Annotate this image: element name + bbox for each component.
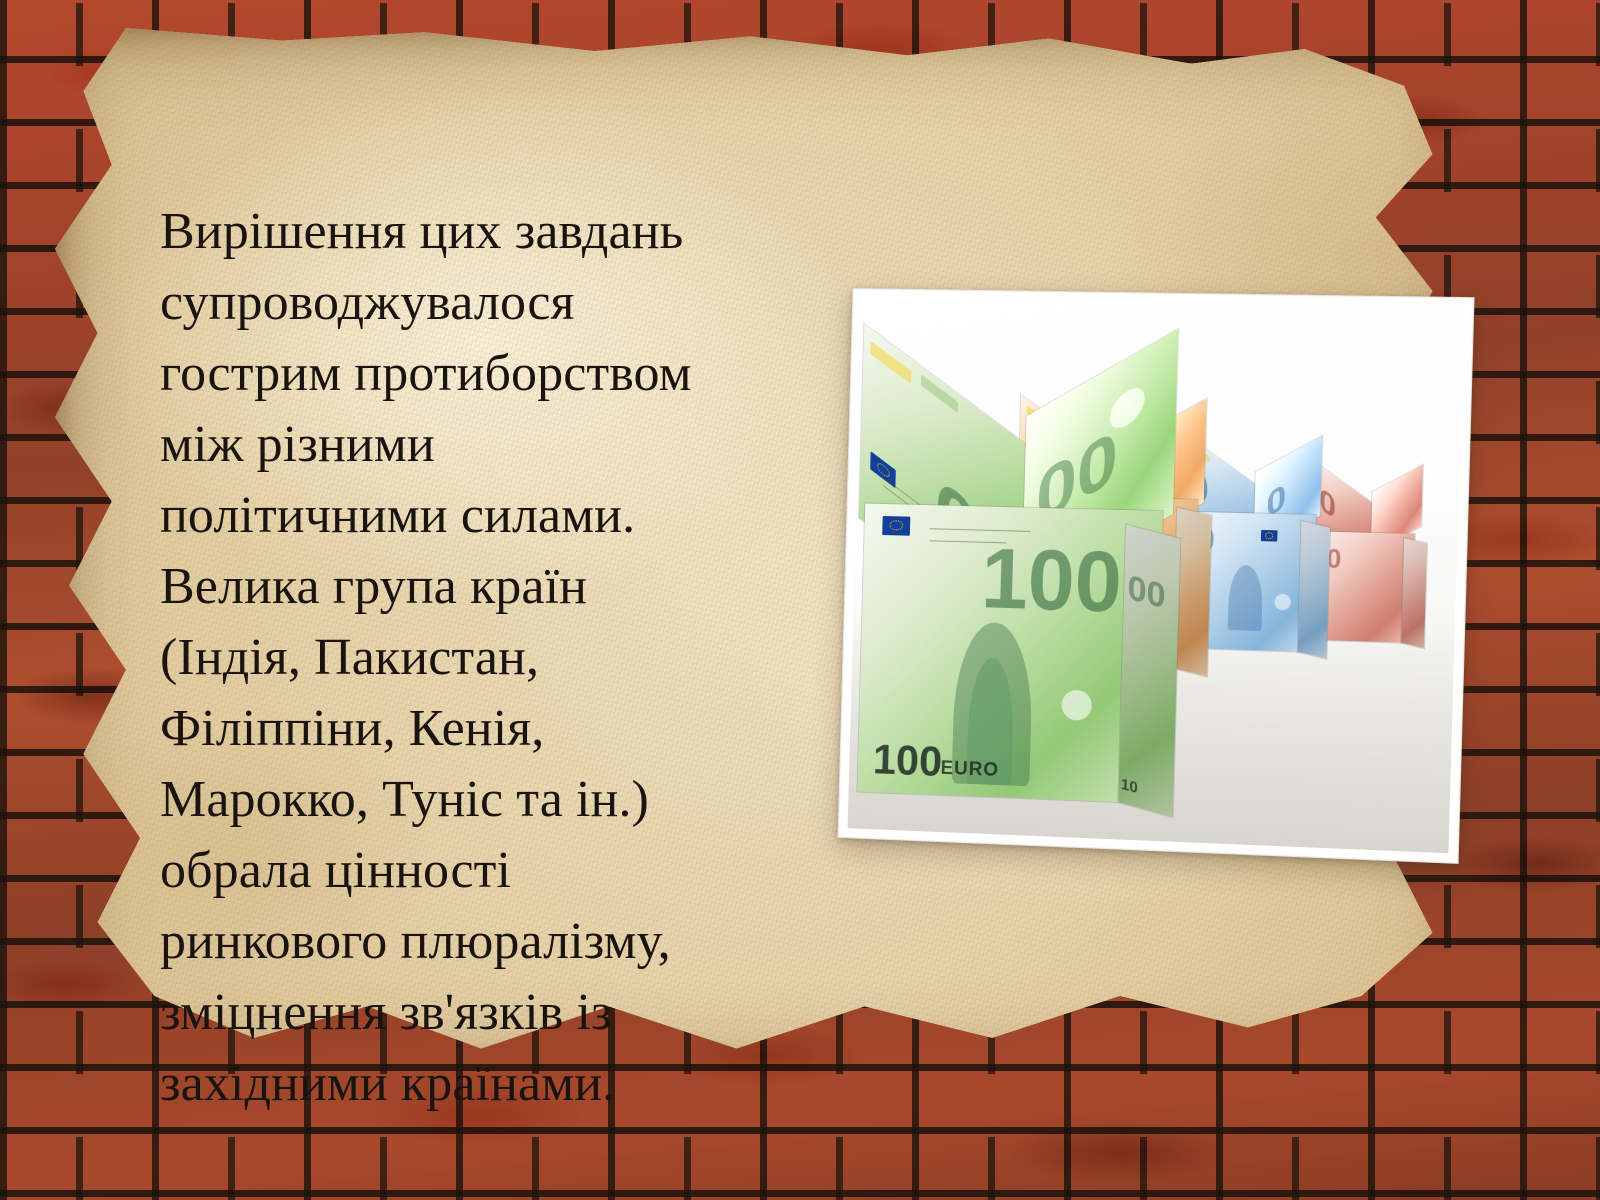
body-line: обрала цінності [160, 835, 820, 906]
body-line: зміцнення зв'язків із [160, 977, 820, 1048]
photograph-euro-houses: 0 0 [848, 298, 1464, 853]
body-line: гострим протиборством [160, 338, 820, 409]
body-line: ринкового плюралізму, [160, 906, 820, 977]
photo-frame-container: 0 0 [845, 288, 1459, 838]
body-line: західними країнами. [160, 1048, 820, 1119]
slide-body-text: Вирішення цих завдань супроводжувалося г… [160, 196, 820, 1119]
banknote-surface-20 [1298, 521, 1330, 659]
picture-frame: 0 0 [837, 288, 1474, 864]
body-line: між різними [160, 409, 820, 480]
slide-canvas: Вирішення цих завдань супроводжувалося г… [0, 0, 1600, 1200]
body-line: (Індія, Пакистан, [160, 622, 820, 693]
euro-house-100: 00 00 [856, 322, 1169, 804]
body-line: політичними силами. [160, 480, 820, 551]
banknote-surface-100: 100 100 EURO [857, 503, 1162, 803]
body-line: супроводжувалося [160, 267, 820, 338]
banknote-surface-10 [1401, 538, 1427, 648]
body-line: Вирішення цих завдань [160, 196, 820, 267]
body-line: Марокко, Туніс та ін.) [160, 764, 820, 835]
banknote-surface-100: 00 10 [1118, 525, 1180, 817]
body-line: Філіппіни, Кенія, [160, 693, 820, 764]
body-line: Велика група країн [160, 551, 820, 622]
